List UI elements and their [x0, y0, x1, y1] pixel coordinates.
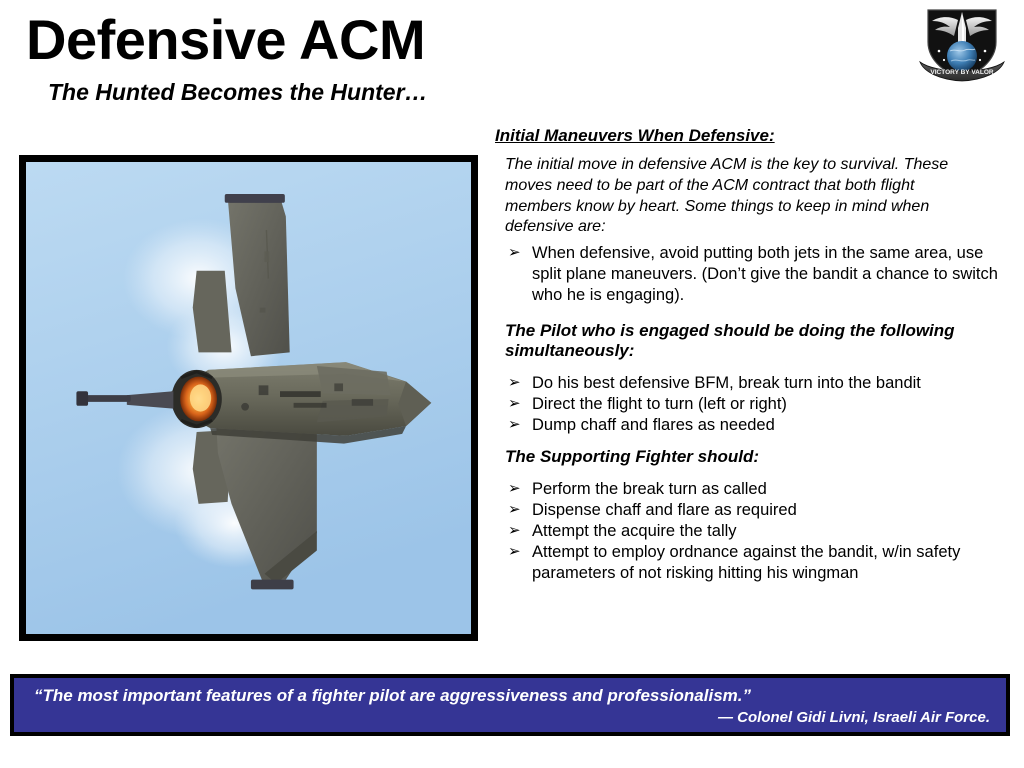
bullet-list-engaged-pilot: ➢ Do his best defensive BFM, break turn …	[495, 373, 1010, 436]
page-subtitle: The Hunted Becomes the Hunter…	[48, 80, 428, 104]
list-item: ➢ When defensive, avoid putting both jet…	[505, 243, 1010, 306]
usaf-shield-emblem-icon: VICTORY BY VALOR	[914, 4, 1010, 84]
list-item: ➢ Direct the flight to turn (left or rig…	[505, 394, 1010, 415]
spacer	[495, 436, 1010, 447]
section-engaged-pilot: The Pilot who is engaged should be doing…	[495, 321, 1010, 436]
spacer	[495, 307, 1010, 321]
list-item: ➢ Dump chaff and flares as needed	[505, 415, 1010, 436]
section-heading-engaged-pilot: The Pilot who is engaged should be doing…	[505, 321, 1010, 361]
quote-text: “The most important features of a fighte…	[34, 685, 990, 706]
list-item: ➢ Attempt the acquire the tally	[505, 521, 1010, 542]
arrow-bullet-icon: ➢	[508, 415, 521, 434]
arrow-bullet-icon: ➢	[508, 542, 521, 561]
list-item: ➢ Dispense chaff and flare as required	[505, 500, 1010, 521]
bullet-list-initial-maneuvers: ➢ When defensive, avoid putting both jet…	[495, 243, 1010, 306]
list-item-label: Attempt to employ ordnance against the b…	[532, 543, 960, 582]
list-item: ➢ Do his best defensive BFM, break turn …	[505, 373, 1010, 394]
list-item: ➢ Perform the break turn as called	[505, 479, 1010, 500]
section-initial-maneuvers: Initial Maneuvers When Defensive: The in…	[495, 126, 1010, 307]
list-item-label: When defensive, avoid putting both jets …	[532, 244, 998, 304]
list-item-label: Do his best defensive BFM, break turn in…	[532, 374, 921, 392]
arrow-bullet-icon: ➢	[508, 500, 521, 519]
section-heading-supporting-fighter: The Supporting Fighter should:	[505, 447, 1010, 467]
arrow-bullet-icon: ➢	[508, 479, 521, 498]
page-title: Defensive ACM	[26, 12, 425, 68]
quote-attribution: — Colonel Gidi Livni, Israeli Air Force.	[34, 709, 990, 728]
bullet-list-supporting-fighter: ➢ Perform the break turn as called ➢ Dis…	[495, 479, 1010, 585]
arrow-bullet-icon: ➢	[508, 521, 521, 540]
arrow-bullet-icon: ➢	[508, 243, 521, 262]
arrow-bullet-icon: ➢	[508, 373, 521, 392]
quote-banner: “The most important features of a fighte…	[10, 674, 1010, 736]
list-item-label: Dump chaff and flares as needed	[532, 416, 775, 434]
list-item: ➢ Attempt to employ ordnance against the…	[505, 542, 1010, 584]
section-paragraph-initial-maneuvers: The initial move in defensive ACM is the…	[505, 155, 975, 238]
list-item-label: Dispense chaff and flare as required	[532, 501, 797, 519]
section-heading-initial-maneuvers: Initial Maneuvers When Defensive:	[495, 126, 1010, 146]
f16-fighter-jet-photo	[19, 155, 478, 641]
list-item-label: Perform the break turn as called	[532, 480, 767, 498]
arrow-bullet-icon: ➢	[508, 394, 521, 413]
section-supporting-fighter: The Supporting Fighter should: ➢ Perform…	[495, 447, 1010, 585]
emblem-motto-text: VICTORY BY VALOR	[930, 69, 994, 76]
list-item-label: Attempt the acquire the tally	[532, 522, 737, 540]
content-text-column: Initial Maneuvers When Defensive: The in…	[495, 126, 1010, 585]
list-item-label: Direct the flight to turn (left or right…	[532, 395, 787, 413]
